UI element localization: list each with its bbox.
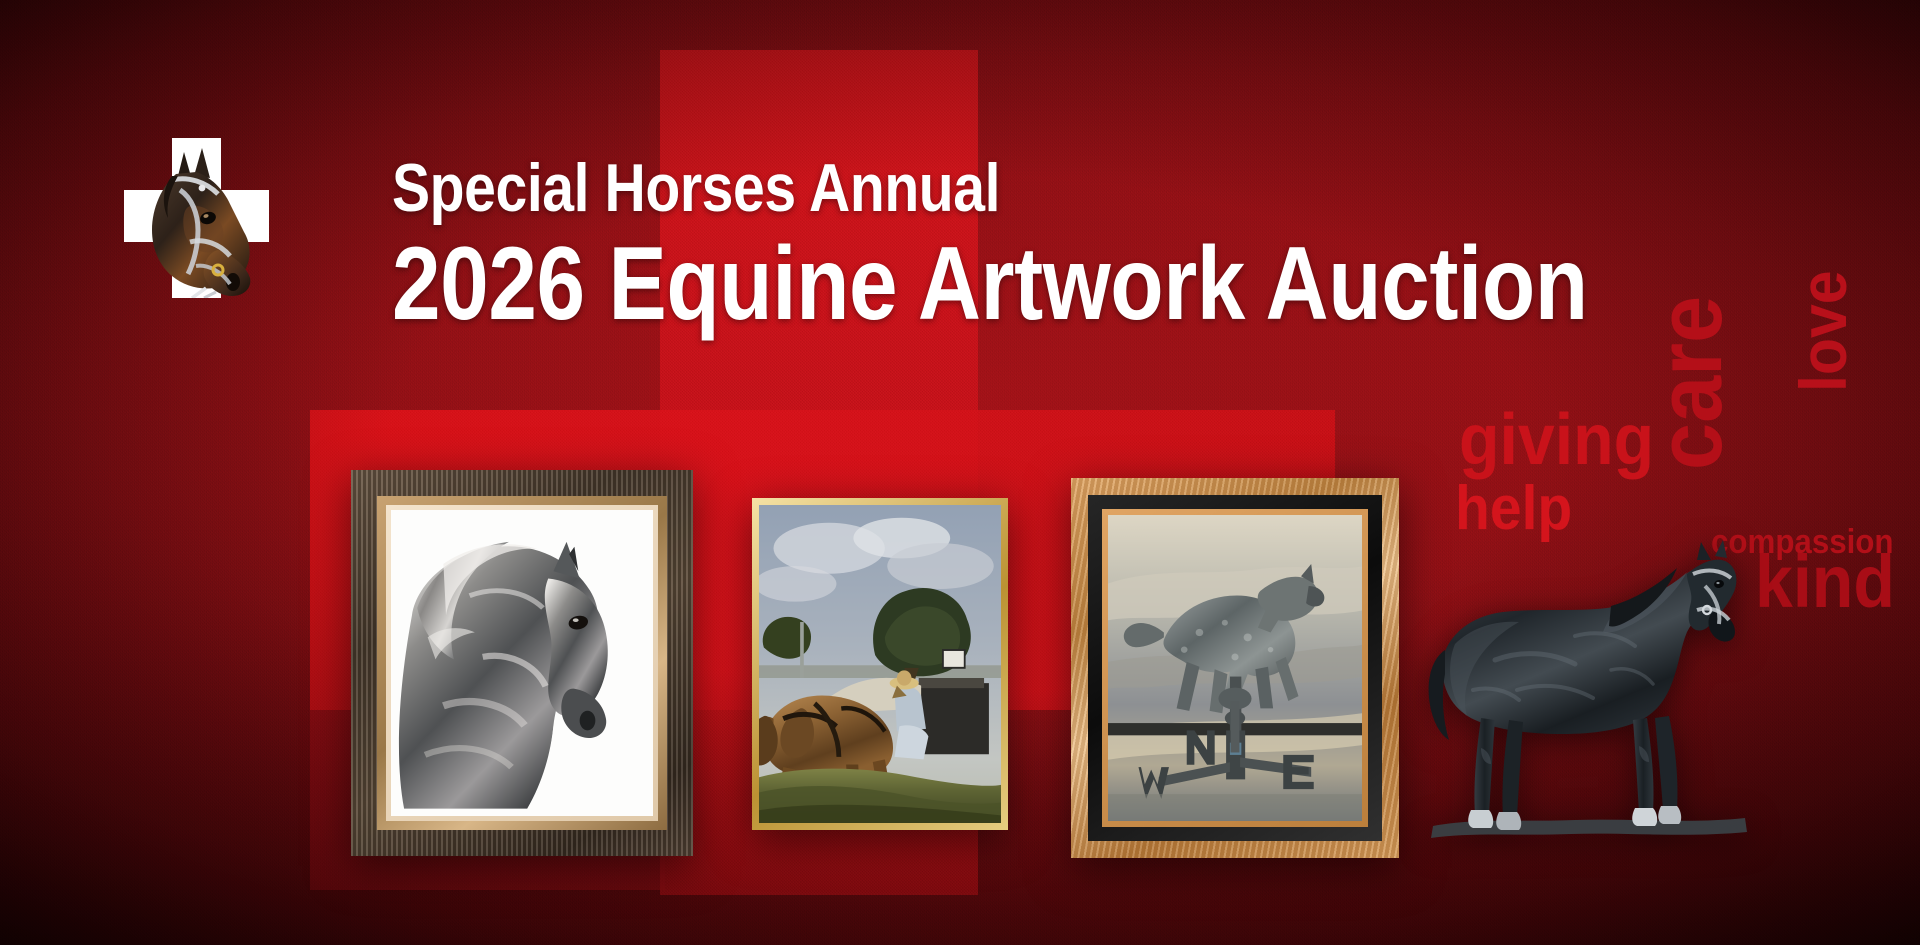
draft-horses-painting (759, 505, 1001, 823)
frame-outer-gilt-gold (722, 468, 1038, 860)
frame-gold-inner (752, 498, 1008, 830)
word-kind: kind (1755, 550, 1895, 614)
headline-line-2: 2026 Equine Artwork Auction (392, 228, 1610, 340)
framed-artwork-grey-horse-portrait[interactable]: Grey Horse Portrait (351, 470, 693, 856)
grey-horse-painting (391, 510, 653, 816)
canvas-draft-team (759, 505, 1001, 823)
frame-black-liner (1088, 495, 1382, 841)
auction-banner: Special Horses Annual 2026 Equine Artwor… (0, 0, 1920, 945)
headline-group: Special Horses Annual 2026 Equine Artwor… (392, 150, 1842, 340)
special-horses-cross-logo[interactable] (124, 138, 269, 298)
frame-gold-band (377, 496, 667, 830)
canvas-weathervane (1108, 515, 1362, 821)
frame-wood-lip (1102, 509, 1368, 827)
canvas-grey-horse (391, 510, 653, 816)
frame-outer-light-wood (1071, 478, 1399, 858)
word-giving: giving (1459, 410, 1654, 472)
weathervane-painting (1108, 515, 1362, 821)
headline-line-1: Special Horses Annual (392, 150, 1610, 226)
bay-horse-head-icon (132, 146, 267, 298)
frame-outer-dark-ornate (351, 470, 693, 856)
framed-artwork-draft-team[interactable]: Draft Team at Work (722, 468, 1038, 860)
frame-inner-lip (386, 505, 658, 821)
framed-artwork-weathervane[interactable]: Horse Weathervane (1071, 478, 1399, 858)
word-help: help (1455, 482, 1572, 535)
black-standing-horse (1425, 540, 1755, 860)
